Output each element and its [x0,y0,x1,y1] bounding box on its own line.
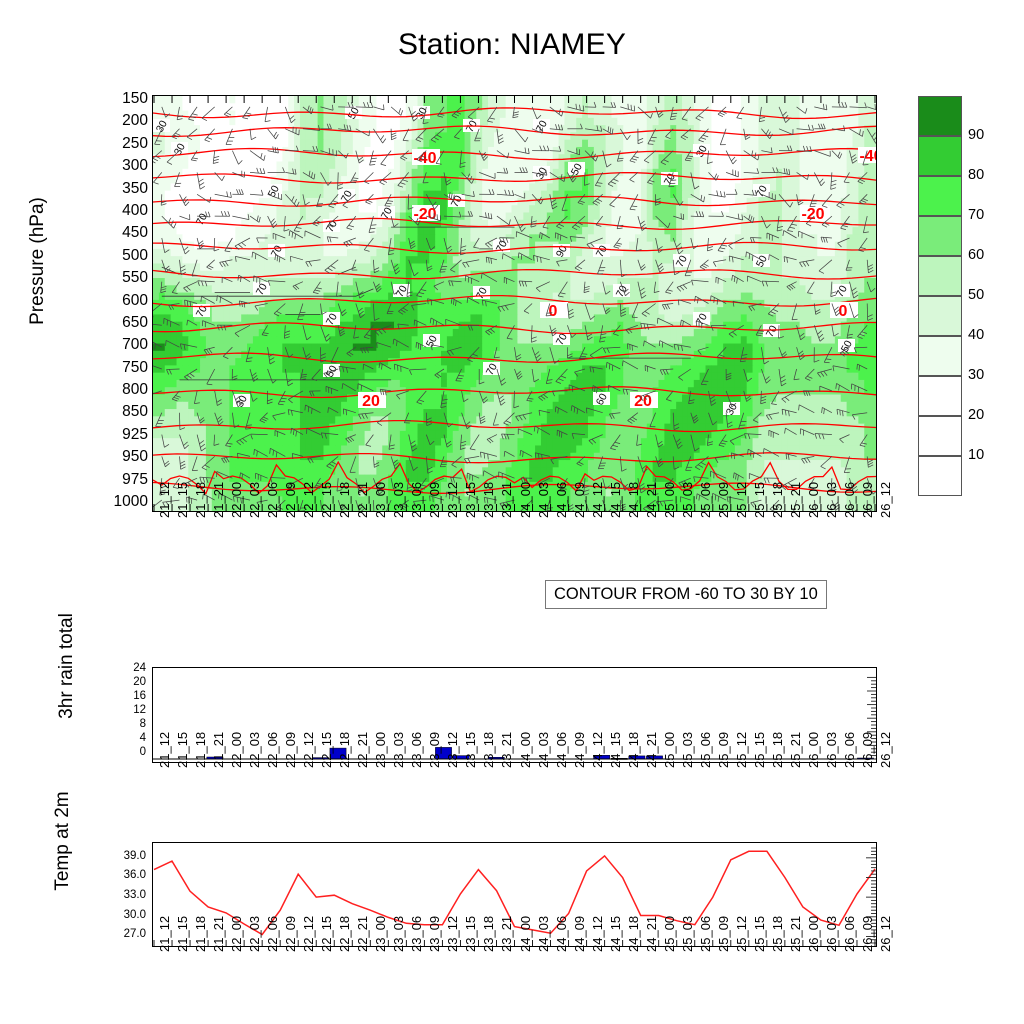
x-tick: 24_09 [572,916,587,952]
y-tick: 700 [122,337,148,353]
x-tick: 24_18 [626,732,641,768]
x-tick: 22_21 [355,482,370,518]
colorbar-band [918,296,962,336]
x-tick: 26_06 [842,732,857,768]
x-tick: 21_15 [175,482,190,518]
x-tick: 23_09 [427,732,442,768]
x-tick: 24_03 [536,482,551,518]
x-tick: 23_06 [409,482,424,518]
x-tick: 23_21 [499,916,514,952]
x-tick: 24_21 [644,732,659,768]
x-tick: 22_09 [283,482,298,518]
x-tick: 22_03 [247,916,262,952]
x-tick: 22_06 [265,732,280,768]
colorbar-band [918,96,962,136]
x-tick: 24_12 [590,482,605,518]
x-tick: 22_18 [337,482,352,518]
x-tick: 23_00 [373,732,388,768]
x-tick: 22_00 [229,732,244,768]
x-tick: 25_12 [734,916,749,952]
x-tick: 23_00 [373,916,388,952]
x-tick: 25_06 [698,482,713,518]
page-title: Station: NIAMEY [0,28,1024,62]
y-tick: 1000 [114,494,148,510]
x-tick: 26_09 [860,732,875,768]
x-tick: 24_00 [518,732,533,768]
x-tick: 24_21 [644,916,659,952]
x-tick: 24_12 [590,732,605,768]
x-tick: 25_09 [716,482,731,518]
x-tick: 26_09 [860,916,875,952]
colorbar-band [918,216,962,256]
x-tick: 26_06 [842,916,857,952]
rain-y-tick: 12 [133,705,146,717]
x-tick: 23_03 [391,732,406,768]
x-tick: 26_09 [860,482,875,518]
x-tick: 26_03 [824,732,839,768]
x-tick: 22_15 [319,916,334,952]
x-tick: 21_15 [175,916,190,952]
x-tick: 25_09 [716,916,731,952]
colorbar-tick: 70 [968,208,984,223]
x-tick: 25_12 [734,732,749,768]
y-tick: 925 [122,427,148,443]
x-tick: 21_21 [211,732,226,768]
y-tick: 500 [122,248,148,264]
x-tick: 22_06 [265,482,280,518]
y-tick: 400 [122,203,148,219]
colorbar-band [918,456,962,496]
rain-y-axis-ticks: 24201612840 [90,667,146,763]
x-tick: 24_18 [626,482,641,518]
x-tick: 26_06 [842,482,857,518]
x-tick: 25_00 [662,482,677,518]
x-tick: 25_03 [680,732,695,768]
x-tick: 23_06 [409,732,424,768]
x-tick: 26_12 [878,732,893,768]
temp-y-axis-label: Temp at 2m [52,726,74,956]
rain-y-tick: 16 [133,691,146,703]
x-tick: 23_18 [481,916,496,952]
temp-y-tick: 39.0 [124,851,146,863]
x-tick: 25_18 [770,482,785,518]
x-tick: 23_12 [445,732,460,768]
x-tick: 23_15 [463,482,478,518]
x-tick: 24_06 [554,732,569,768]
x-tick: 23_15 [463,916,478,952]
x-tick: 25_15 [752,482,767,518]
y-tick: 750 [122,360,148,376]
x-tick: 26_03 [824,916,839,952]
contour-field-svg: 5030707030303050507070707070703070507070… [153,96,876,511]
colorbar-band [918,256,962,296]
y-tick: 350 [122,181,148,197]
y-tick: 200 [122,113,148,129]
x-tick: 22_18 [337,916,352,952]
x-tick: 24_09 [572,732,587,768]
x-tick: 22_03 [247,732,262,768]
y-tick: 450 [122,225,148,241]
x-tick: 25_06 [698,916,713,952]
temp-y-tick: 27.0 [124,929,146,941]
y-tick: 250 [122,136,148,152]
colorbar-tick: 40 [968,328,984,343]
x-tick: 25_00 [662,732,677,768]
x-tick: 25_21 [788,732,803,768]
main-y-axis-ticks: 1502002503003504004505005506006507007508… [58,95,148,512]
x-tick: 25_15 [752,732,767,768]
humidity-cross-section-plot[interactable]: 5030707030303050507070707070703070507070… [152,95,877,512]
contour-note: CONTOUR FROM -60 TO 30 BY 10 [545,580,827,609]
x-tick: 21_12 [157,916,172,952]
x-tick: 26_00 [806,732,821,768]
x-tick: 25_06 [698,732,713,768]
temp-y-tick: 33.0 [124,890,146,902]
x-tick: 24_12 [590,916,605,952]
x-tick: 24_15 [608,732,623,768]
temp-y-axis-ticks: 39.036.033.030.027.0 [86,842,146,947]
colorbar [918,96,962,496]
colorbar-labels: 908070605040302010 [968,96,1016,496]
x-tick: 26_12 [878,916,893,952]
x-tick: 21_18 [193,732,208,768]
x-tick: 23_00 [373,482,388,518]
x-tick: 21_21 [211,482,226,518]
x-tick: 24_09 [572,482,587,518]
x-tick: 24_03 [536,916,551,952]
y-tick: 550 [122,270,148,286]
x-tick: 25_03 [680,916,695,952]
x-tick: 24_06 [554,482,569,518]
x-tick: 25_18 [770,732,785,768]
x-tick: 22_09 [283,732,298,768]
x-tick: 23_18 [481,732,496,768]
x-tick: 21_18 [193,916,208,952]
x-tick: 26_12 [878,482,893,518]
x-tick: 23_03 [391,916,406,952]
x-tick: 25_15 [752,916,767,952]
rain-y-tick: 0 [140,747,146,759]
x-tick: 23_09 [427,916,442,952]
colorbar-tick: 50 [968,288,984,303]
main-x-axis-ticks: 21_1221_1521_1821_2122_0022_0322_0622_09… [152,516,875,586]
x-tick: 21_12 [157,482,172,518]
x-tick: 22_00 [229,482,244,518]
x-tick: 22_18 [337,732,352,768]
y-tick: 150 [122,91,148,107]
x-tick: 25_09 [716,732,731,768]
colorbar-band [918,136,962,176]
x-tick: 22_03 [247,482,262,518]
x-tick: 25_18 [770,916,785,952]
x-tick: 23_21 [499,732,514,768]
colorbar-tick: 30 [968,368,984,383]
x-tick: 24_06 [554,916,569,952]
temp-y-tick: 36.0 [124,870,146,882]
x-tick: 26_03 [824,482,839,518]
y-tick: 850 [122,404,148,420]
x-tick: 23_21 [499,482,514,518]
x-tick: 22_12 [301,482,316,518]
colorbar-tick: 60 [968,248,984,263]
colorbar-band [918,376,962,416]
x-tick: 23_03 [391,482,406,518]
rain-y-tick: 24 [133,663,146,675]
temp-y-tick: 30.0 [124,910,146,922]
y-tick: 650 [122,315,148,331]
colorbar-tick: 80 [968,168,984,183]
x-tick: 25_21 [788,482,803,518]
temp-x-axis-ticks: 21_1221_1521_1821_2122_0022_0322_0622_09… [152,950,875,1020]
x-tick: 22_15 [319,732,334,768]
x-tick: 22_06 [265,916,280,952]
y-tick: 800 [122,382,148,398]
x-tick: 24_15 [608,482,623,518]
rain-y-tick: 20 [133,677,146,689]
colorbar-tick: 90 [968,128,984,143]
colorbar-band [918,416,962,456]
x-tick: 23_12 [445,916,460,952]
x-tick: 22_21 [355,732,370,768]
x-tick: 24_00 [518,482,533,518]
x-tick: 22_12 [301,916,316,952]
main-y-axis-label: Pressure (hPa) [27,151,49,371]
x-tick: 25_00 [662,916,677,952]
x-tick: 22_00 [229,916,244,952]
colorbar-band [918,336,962,376]
colorbar-tick: 20 [968,408,984,423]
x-tick: 23_18 [481,482,496,518]
x-tick: 21_15 [175,732,190,768]
x-tick: 22_21 [355,916,370,952]
x-tick: 25_21 [788,916,803,952]
x-tick: 24_18 [626,916,641,952]
rain-x-axis-ticks: 21_1221_1521_1821_2122_0022_0322_0622_09… [152,766,875,836]
x-tick: 23_15 [463,732,478,768]
x-tick: 21_21 [211,916,226,952]
x-tick: 26_00 [806,482,821,518]
x-tick: 23_12 [445,482,460,518]
y-tick: 600 [122,293,148,309]
rain-y-tick: 8 [140,719,146,731]
x-tick: 24_21 [644,482,659,518]
x-tick: 22_15 [319,482,334,518]
y-tick: 950 [122,449,148,465]
x-tick: 22_12 [301,732,316,768]
y-tick: 975 [122,472,148,488]
x-tick: 26_00 [806,916,821,952]
x-tick: 21_18 [193,482,208,518]
colorbar-band [918,176,962,216]
x-tick: 24_03 [536,732,551,768]
x-tick: 23_06 [409,916,424,952]
rain-y-tick: 4 [140,733,146,745]
x-tick: 23_09 [427,482,442,518]
x-tick: 21_12 [157,732,172,768]
x-tick: 25_12 [734,482,749,518]
y-tick: 300 [122,158,148,174]
x-tick: 25_03 [680,482,695,518]
x-tick: 24_15 [608,916,623,952]
x-tick: 22_09 [283,916,298,952]
colorbar-tick: 10 [968,448,984,463]
x-tick: 24_00 [518,916,533,952]
